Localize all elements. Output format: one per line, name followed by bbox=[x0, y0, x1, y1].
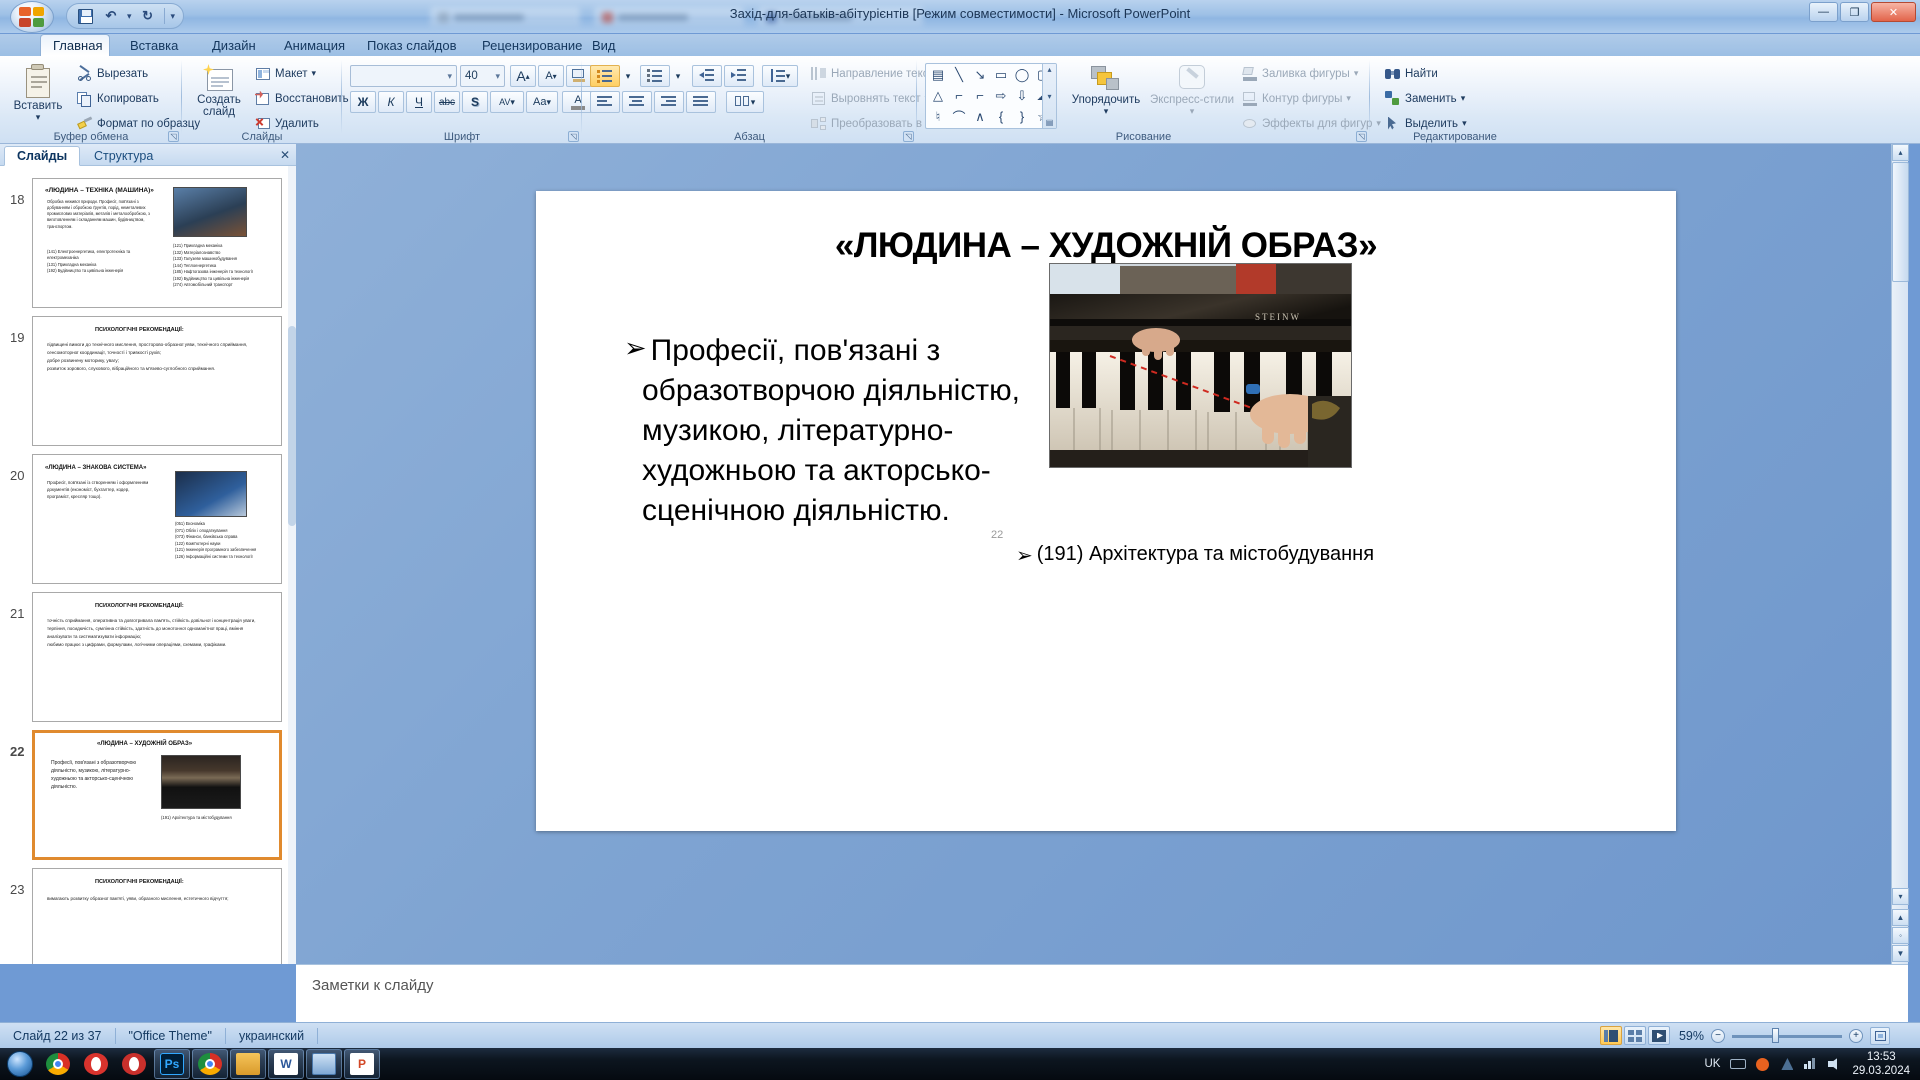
bold-button[interactable]: Ж bbox=[350, 91, 376, 113]
quick-styles-label: Экспресс-стили bbox=[1150, 94, 1234, 106]
find-button[interactable]: Найти bbox=[1382, 64, 1441, 83]
notes-pane[interactable]: Заметки к слайду bbox=[296, 964, 1908, 1022]
zoom-slider-handle[interactable] bbox=[1772, 1028, 1779, 1043]
thumbnail-slide-selected[interactable]: «ЛЮДИНА – ХУДОЖНІЙ ОБРАЗ» Професії, пов'… bbox=[32, 730, 282, 860]
slide-body-line: сценічною діяльністю. bbox=[624, 491, 1144, 531]
opera2-icon bbox=[122, 1053, 146, 1075]
title-bar: ↶ ▾ ↻ ▾ Захід-для-батьків-абітурієнтів [… bbox=[0, 0, 1920, 34]
thumbnail-slide[interactable]: «ЛЮДИНА – ЗНАКОВА СИСТЕМА» Професії, пов… bbox=[32, 454, 282, 584]
thumbnail-photo bbox=[175, 471, 247, 517]
paintbrush-icon bbox=[77, 116, 93, 132]
layout-dropdown-icon[interactable]: ▾ bbox=[312, 68, 317, 79]
paint-bucket-icon bbox=[1242, 66, 1258, 82]
svg-text:STEINW: STEINW bbox=[1255, 312, 1301, 322]
scroll-down-button[interactable]: ▾ bbox=[1892, 888, 1909, 905]
quick-styles-button[interactable]: Экспресс-стили ▾ bbox=[1149, 64, 1235, 117]
shadow-label: S bbox=[471, 95, 479, 109]
ribbon-group-font: ▾ 40 ▾ A▴ A▾ Ж К Ч abc S AV▾ Aa▾ A bbox=[342, 56, 582, 144]
taskbar-opera-2[interactable] bbox=[116, 1049, 152, 1079]
left-brace-shape-icon[interactable]: { bbox=[991, 107, 1011, 126]
numbering-dropdown-icon[interactable]: ▾ bbox=[671, 65, 685, 87]
elbow-arrow-icon[interactable]: ⌐ bbox=[970, 86, 990, 105]
increase-indent-icon bbox=[731, 68, 747, 84]
font-size-combobox[interactable]: 40 ▾ bbox=[460, 65, 505, 87]
taskbar-chrome-2[interactable] bbox=[192, 1049, 228, 1079]
binoculars-icon bbox=[1385, 66, 1401, 82]
triangle-shape-icon[interactable]: △ bbox=[928, 86, 948, 105]
text-direction-icon bbox=[811, 66, 827, 82]
thumbnail-title: «ЛЮДИНА – ТЕХНІКА (МАШИНА)» bbox=[45, 187, 154, 194]
font-size-value: 40 bbox=[465, 70, 495, 82]
bullet-list-icon bbox=[597, 68, 613, 84]
change-case-label: Aa bbox=[533, 96, 546, 108]
close-button[interactable]: ✕ bbox=[1871, 2, 1916, 22]
align-right-icon bbox=[661, 94, 677, 110]
photoshop-icon: Ps bbox=[160, 1053, 184, 1075]
tab-insert[interactable]: Вставка bbox=[118, 34, 190, 56]
thumbnail-body: Професії, пов'язані з образотворчою діял… bbox=[51, 759, 149, 791]
arrange-dropdown-icon[interactable]: ▾ bbox=[1104, 106, 1109, 117]
character-spacing-button[interactable]: AV▾ bbox=[490, 91, 524, 113]
tab-design[interactable]: Дизайн bbox=[200, 34, 268, 56]
thumbnail-slide[interactable]: ПСИХОЛОГІЧНІ РЕКОМЕНДАЦІЇ: точність спри… bbox=[32, 592, 282, 722]
thumbnail-title: ПСИХОЛОГІЧНІ РЕКОМЕНДАЦІЇ: bbox=[95, 327, 184, 333]
slide-second-bullet-text: (191) Архітектура та містобудування bbox=[1037, 543, 1374, 568]
justify-button[interactable] bbox=[686, 91, 716, 113]
thumbnail-body: Професії, пов'язані із створенням і офор… bbox=[47, 479, 151, 500]
align-center-icon bbox=[629, 94, 645, 110]
replace-icon bbox=[1385, 91, 1401, 107]
shapes-row[interactable]: △ ⌐ ⌐ ⇨ ⇩ ☁ bbox=[926, 85, 1056, 106]
layout-label: Макет bbox=[275, 68, 308, 80]
previous-slide-button[interactable]: ▲ bbox=[1892, 909, 1909, 926]
oval-shape-icon[interactable]: ◯ bbox=[1012, 65, 1032, 84]
arrange-button[interactable]: Упорядочить ▾ bbox=[1065, 64, 1147, 117]
tab-view[interactable]: Вид bbox=[580, 34, 628, 56]
group-label-slides: Слайды bbox=[182, 131, 342, 143]
decrease-indent-button[interactable] bbox=[692, 65, 722, 87]
window-title: Захід-для-батьків-абітурієнтів [Режим со… bbox=[0, 6, 1920, 21]
elbow-connector-icon[interactable]: ⌐ bbox=[949, 86, 969, 105]
tab-slides-thumbnails[interactable]: Слайды bbox=[4, 146, 80, 166]
justify-icon bbox=[693, 94, 709, 110]
powerpoint-icon: P bbox=[350, 1053, 374, 1075]
bullets-dropdown-icon[interactable]: ▾ bbox=[621, 65, 635, 87]
columns-button[interactable]: ▾ bbox=[726, 91, 764, 113]
align-text-icon bbox=[811, 91, 827, 107]
view-normal-icon bbox=[1604, 1030, 1618, 1042]
thumbnail-list: (191) Архітектура та містобудування bbox=[161, 815, 271, 820]
view-sorter-icon bbox=[1628, 1030, 1642, 1042]
align-text-button[interactable]: Выровнять текст ▾ bbox=[808, 89, 932, 108]
copy-icon bbox=[77, 91, 93, 107]
thumbnail-extra: (141) Електроенергетика, електротехніка … bbox=[47, 249, 162, 274]
rectangle-shape-icon[interactable]: ▭ bbox=[991, 65, 1011, 84]
font-name-dropdown-icon[interactable]: ▾ bbox=[447, 71, 452, 82]
underline-label: Ч bbox=[415, 95, 423, 109]
piano-photo[interactable]: STEINW bbox=[1049, 263, 1352, 468]
thumbnail-slide[interactable]: ПСИХОЛОГІЧНІ РЕКОМЕНДАЦІЇ: підвищені вим… bbox=[32, 316, 282, 446]
change-case-button[interactable]: Aa▾ bbox=[526, 91, 558, 113]
slide-thumbnail-list[interactable]: 18 «ЛЮДИНА – ТЕХНІКА (МАШИНА)» Обробка н… bbox=[0, 166, 296, 964]
thumbnail-list: (051) Економіка (071) Облік і оподаткува… bbox=[175, 521, 279, 560]
clipboard-dialog-launcher[interactable]: ◹ bbox=[168, 131, 179, 142]
shapes-row[interactable]: ♮ ⌒ ∧ { } ☆ bbox=[926, 106, 1056, 127]
shape-outline-icon bbox=[1242, 91, 1258, 107]
piano-photo-graphic: STEINW bbox=[1050, 264, 1352, 468]
thumbnail-title: «ЛЮДИНА – ХУДОЖНІЙ ОБРАЗ» bbox=[97, 741, 192, 747]
fit-to-window-icon bbox=[1875, 1031, 1886, 1041]
current-slide[interactable]: «ЛЮДИНА – ХУДОЖНІЙ ОБРАЗ» ➢ Професії, по… bbox=[536, 191, 1676, 831]
shapes-gallery-scrollbar[interactable]: ▴ ▾ ▤ bbox=[1042, 64, 1056, 128]
spacing-label: AV bbox=[499, 98, 510, 107]
line-spacing-button[interactable]: ▾ bbox=[762, 65, 798, 87]
scroll-up-button[interactable]: ▴ bbox=[1892, 144, 1909, 161]
window-icon bbox=[312, 1053, 336, 1075]
slide-area-scrollbar[interactable]: ▴ ▾ ▲ ◦ ▼ bbox=[1891, 144, 1908, 964]
windows-taskbar[interactable]: Ps W P UK bbox=[0, 1048, 1920, 1080]
align-center-button[interactable] bbox=[622, 91, 652, 113]
delete-icon bbox=[255, 116, 271, 132]
opera-icon bbox=[84, 1053, 108, 1075]
chrome-icon bbox=[46, 1053, 70, 1075]
explorer-icon bbox=[236, 1053, 260, 1075]
strikethrough-label: abc bbox=[439, 97, 455, 108]
align-left-icon bbox=[597, 94, 613, 110]
font-dialog-launcher[interactable]: ◹ bbox=[568, 131, 579, 142]
down-arrow-shape-icon[interactable]: ⇩ bbox=[1012, 86, 1032, 105]
zoom-slider-track bbox=[1732, 1035, 1842, 1038]
reset-view-button[interactable]: ◦ bbox=[1892, 927, 1909, 944]
bullets-button[interactable] bbox=[590, 65, 620, 87]
underline-button[interactable]: Ч bbox=[406, 91, 432, 113]
cursor-arrow-icon bbox=[1385, 116, 1401, 132]
ribbon-group-slides: Создать слайд Макет ▾ Восстановить bbox=[182, 56, 342, 144]
select-label: Выделить bbox=[1405, 118, 1458, 130]
thumbnail-title: ПСИХОЛОГІЧНІ РЕКОМЕНДАЦІЇ: bbox=[95, 879, 184, 885]
group-label-editing: Редактирование bbox=[1370, 131, 1540, 143]
layout-button[interactable]: Макет ▾ bbox=[252, 64, 319, 83]
right-brace-shape-icon[interactable]: } bbox=[1012, 107, 1032, 126]
shape-fill-button[interactable]: Заливка фигуры ▾ bbox=[1239, 64, 1361, 83]
thumbnail-photo bbox=[161, 755, 241, 809]
thumbnail-photo bbox=[173, 187, 247, 237]
next-slide-button[interactable]: ▼ bbox=[1892, 945, 1909, 962]
align-text-label: Выровнять текст bbox=[831, 93, 921, 105]
thumbnail-body: точність сприймання, оперативна та довго… bbox=[47, 617, 269, 649]
start-button[interactable] bbox=[0, 1049, 40, 1079]
grow-font-label: A bbox=[516, 68, 525, 84]
paste-label: Вставить bbox=[14, 100, 63, 112]
group-label-font: Шрифт bbox=[342, 131, 582, 143]
find-label: Найти bbox=[1405, 68, 1438, 80]
thumbnail-number: 18 bbox=[10, 192, 24, 207]
tab-outline[interactable]: Структура bbox=[82, 146, 165, 166]
thumbnail-slide[interactable]: «ЛЮДИНА – ТЕХНІКА (МАШИНА)» Обробка нежи… bbox=[32, 178, 282, 308]
reset-button[interactable]: Восстановить bbox=[252, 89, 352, 108]
network-icon[interactable] bbox=[1804, 1057, 1818, 1071]
window-controls[interactable]: — ❐ ✕ bbox=[1809, 2, 1916, 22]
slide-editing-area[interactable]: «ЛЮДИНА – ХУДОЖНІЙ ОБРАЗ» ➢ Професії, по… bbox=[296, 144, 1908, 964]
new-slide-button[interactable]: Создать слайд bbox=[190, 64, 248, 118]
group-label-clipboard: Буфер обмена bbox=[0, 131, 182, 143]
bullet-arrow-icon: ➢ bbox=[624, 331, 647, 371]
group-label-drawing: Рисование bbox=[917, 131, 1370, 143]
align-left-button[interactable] bbox=[590, 91, 620, 113]
theme-name[interactable]: "Office Theme" bbox=[116, 1026, 225, 1046]
view-slideshow-button[interactable] bbox=[1648, 1026, 1670, 1045]
word-icon: W bbox=[274, 1053, 298, 1075]
taskbar-word[interactable]: W bbox=[268, 1049, 304, 1079]
italic-button[interactable]: К bbox=[378, 91, 404, 113]
tab-slideshow[interactable]: Показ слайдов bbox=[355, 34, 469, 56]
shape-effects-label: Эффекты для фигур bbox=[1262, 118, 1372, 130]
columns-icon bbox=[735, 94, 751, 110]
tab-animation[interactable]: Анимация bbox=[272, 34, 357, 56]
quick-styles-dropdown-icon[interactable]: ▾ bbox=[1190, 106, 1195, 117]
action-center-icon[interactable] bbox=[1780, 1057, 1794, 1071]
slide-title[interactable]: «ЛЮДИНА – ХУДОЖНІЙ ОБРАЗ» bbox=[536, 226, 1676, 266]
view-sorter-button[interactable] bbox=[1624, 1026, 1646, 1045]
view-slideshow-icon bbox=[1652, 1030, 1666, 1042]
scroll-thumb[interactable] bbox=[1892, 162, 1909, 282]
zoom-slider[interactable] bbox=[1732, 1026, 1842, 1045]
slide-second-bullet[interactable]: ➢ (191) Архітектура та містобудування bbox=[1016, 543, 1374, 568]
fit-to-window-button[interactable] bbox=[1870, 1027, 1890, 1045]
thumbnail-body: Обробка неживої природи. Професії, пов'я… bbox=[47, 199, 159, 230]
slides-pane-tabs: Слайды Структура ✕ bbox=[0, 144, 296, 166]
zoom-in-button[interactable]: + bbox=[1849, 1029, 1863, 1043]
gallery-more-icon[interactable]: ▤ bbox=[1046, 118, 1054, 127]
tab-review[interactable]: Рецензирование bbox=[470, 34, 594, 56]
scissors-icon bbox=[77, 66, 93, 82]
shape-effects-icon bbox=[1242, 116, 1258, 132]
clock-date: 29.03.2024 bbox=[1852, 1064, 1910, 1078]
text-shadow-button[interactable]: S bbox=[462, 91, 488, 113]
thumbnail-body: вимагають розвитку образної пам'яті, уяв… bbox=[47, 895, 269, 903]
curve-shape-icon[interactable]: ⌒ bbox=[949, 107, 969, 126]
chrome2-icon bbox=[198, 1053, 222, 1075]
copy-button[interactable]: Копировать bbox=[74, 89, 162, 108]
gallery-scroll-up-icon[interactable]: ▴ bbox=[1047, 65, 1051, 74]
zoom-percent[interactable]: 59% bbox=[1679, 1029, 1704, 1043]
bullet-arrow-icon-2: ➢ bbox=[1016, 543, 1033, 568]
font-size-dropdown-icon[interactable]: ▾ bbox=[495, 71, 500, 82]
align-right-button[interactable] bbox=[654, 91, 684, 113]
thumbnail-title: «ЛЮДИНА – ЗНАКОВА СИСТЕМА» bbox=[45, 465, 146, 471]
thumbnail-number: 23 bbox=[10, 882, 24, 897]
smartart-icon bbox=[811, 116, 827, 132]
antivirus-icon[interactable] bbox=[1756, 1057, 1770, 1071]
slides-pane-scroll-thumb[interactable] bbox=[288, 326, 296, 526]
thumbnail-title: ПСИХОЛОГІЧНІ РЕКОМЕНДАЦІЇ: bbox=[95, 603, 184, 609]
ribbon-group-editing: Найти Заменить ▾ Выделить ▾ Редактирован… bbox=[1370, 56, 1540, 144]
slides-pane-scrollbar[interactable] bbox=[288, 166, 296, 964]
line-shape-icon[interactable]: ╲ bbox=[949, 65, 969, 84]
line-spacing-icon bbox=[770, 68, 786, 84]
decrease-indent-icon bbox=[699, 68, 715, 84]
thumbnail-body: підвищені вимоги до технічного мислення,… bbox=[47, 341, 269, 373]
arc-shape-icon[interactable]: ∧ bbox=[970, 107, 990, 126]
notes-placeholder[interactable]: Заметки к слайду bbox=[312, 977, 434, 994]
taskbar-powerpoint[interactable]: P bbox=[344, 1049, 380, 1079]
delete-slide-label: Удалить bbox=[275, 118, 319, 130]
clock-time: 13:53 bbox=[1852, 1050, 1910, 1064]
bold-label: Ж bbox=[358, 95, 369, 109]
slide-number-placeholder: 22 bbox=[991, 529, 1003, 541]
cut-button[interactable]: Вырезать bbox=[74, 64, 151, 83]
reset-label: Восстановить bbox=[275, 93, 349, 105]
drawing-dialog-launcher[interactable]: ◹ bbox=[1356, 131, 1367, 142]
copy-label: Копировать bbox=[97, 93, 159, 105]
close-pane-icon[interactable]: ✕ bbox=[280, 148, 290, 162]
paragraph-dialog-launcher[interactable]: ◹ bbox=[903, 131, 914, 142]
grow-font-button[interactable]: A▴ bbox=[510, 65, 536, 87]
thumbnail-list: (121) Прикладна механіка (132) Матеріало… bbox=[173, 243, 277, 289]
increase-indent-button[interactable] bbox=[724, 65, 754, 87]
slide-counter[interactable]: Слайд 22 из 37 bbox=[0, 1026, 115, 1046]
new-slide-icon bbox=[203, 64, 235, 94]
shapes-row[interactable]: ▤ ╲ ↘ ▭ ◯ ▢ bbox=[926, 64, 1056, 85]
thumbnail-slide[interactable]: ПСИХОЛОГІЧНІ РЕКОМЕНДАЦІЇ: вимагають роз… bbox=[32, 868, 282, 964]
arrow-shape-icon[interactable]: ↘ bbox=[970, 65, 990, 84]
layout-icon bbox=[255, 66, 271, 82]
shrink-font-button[interactable]: A▾ bbox=[538, 65, 564, 87]
gallery-scroll-down-icon[interactable]: ▾ bbox=[1047, 92, 1051, 101]
shapes-gallery[interactable]: ▤ ╲ ↘ ▭ ◯ ▢ △ ⌐ ⌐ ⇨ ⇩ ☁ ♮ ⌒ ∧ { } ☆ bbox=[925, 63, 1057, 129]
ribbon-group-drawing: ▤ ╲ ↘ ▭ ◯ ▢ △ ⌐ ⌐ ⇨ ⇩ ☁ ♮ ⌒ ∧ { } ☆ bbox=[917, 56, 1370, 144]
taskbar-photoshop[interactable]: Ps bbox=[154, 1049, 190, 1079]
slide-body-line: Професії, пов'язані з bbox=[651, 331, 941, 371]
ribbon: Вставить ▾ Вырезать Копировать Ф bbox=[0, 56, 1920, 144]
volume-icon[interactable] bbox=[1828, 1057, 1842, 1071]
view-normal-button[interactable] bbox=[1600, 1026, 1622, 1045]
shape-outline-button[interactable]: Контур фигуры ▾ bbox=[1239, 89, 1354, 108]
paste-icon bbox=[22, 64, 54, 100]
paste-button[interactable]: Вставить ▾ bbox=[6, 64, 70, 123]
right-arrow-shape-icon[interactable]: ⇨ bbox=[991, 86, 1011, 105]
numbering-button[interactable] bbox=[640, 65, 670, 87]
arrange-icon bbox=[1089, 64, 1123, 94]
zoom-controls[interactable]: 59% − + bbox=[1679, 1026, 1890, 1045]
taskbar-clock[interactable]: 13:53 29.03.2024 bbox=[1852, 1050, 1910, 1079]
thumbnail-number: 22 bbox=[10, 744, 24, 759]
numbered-list-icon bbox=[647, 68, 663, 84]
paste-dropdown-icon[interactable]: ▾ bbox=[36, 112, 41, 123]
group-label-paragraph: Абзац bbox=[582, 131, 917, 143]
taskbar-explorer[interactable] bbox=[230, 1049, 266, 1079]
keyboard-icon[interactable] bbox=[1730, 1057, 1746, 1071]
ribbon-group-paragraph: ▾ ▾ bbox=[582, 56, 917, 144]
taskbar-opera[interactable] bbox=[78, 1049, 114, 1079]
taskbar-chrome[interactable] bbox=[40, 1049, 76, 1079]
thumbnail-number: 20 bbox=[10, 468, 24, 483]
shrink-font-label: A bbox=[545, 70, 552, 82]
tab-home[interactable]: Главная bbox=[40, 34, 110, 56]
replace-label: Заменить bbox=[1405, 93, 1457, 105]
shape-fill-label: Заливка фигуры bbox=[1262, 68, 1350, 80]
language-indicator[interactable]: украинский bbox=[226, 1026, 317, 1046]
thumbnail-number: 19 bbox=[10, 330, 24, 345]
new-slide-label: Создать слайд bbox=[190, 94, 248, 118]
replace-button[interactable]: Заменить ▾ bbox=[1382, 89, 1468, 108]
status-bar: Слайд 22 из 37 "Office Theme" украинский bbox=[0, 1022, 1920, 1048]
font-name-combobox[interactable]: ▾ bbox=[350, 65, 457, 87]
ribbon-group-clipboard: Вставить ▾ Вырезать Копировать Ф bbox=[0, 56, 182, 144]
italic-label: К bbox=[387, 95, 394, 109]
freeform-shape-icon[interactable]: ♮ bbox=[928, 107, 948, 126]
status-separator bbox=[317, 1028, 318, 1044]
quick-styles-icon bbox=[1176, 64, 1208, 94]
arrange-label: Упорядочить bbox=[1072, 94, 1140, 106]
system-tray[interactable]: UK 13:53 29.03.2024 bbox=[1704, 1048, 1920, 1080]
ribbon-tab-strip: Главная Вставка Дизайн Анимация Показ сл… bbox=[0, 34, 1920, 56]
taskbar-window[interactable] bbox=[306, 1049, 342, 1079]
start-orb-icon bbox=[7, 1051, 33, 1077]
thumbnail-number: 21 bbox=[10, 606, 24, 621]
tray-language[interactable]: UK bbox=[1704, 1058, 1720, 1070]
reset-icon bbox=[255, 91, 271, 107]
shape-outline-label: Контур фигуры bbox=[1262, 93, 1342, 105]
maximize-button[interactable]: ❐ bbox=[1840, 2, 1869, 22]
minimize-button[interactable]: — bbox=[1809, 2, 1838, 22]
textbox-shape-icon[interactable]: ▤ bbox=[928, 65, 948, 84]
zoom-out-button[interactable]: − bbox=[1711, 1029, 1725, 1043]
strikethrough-button[interactable]: abc bbox=[434, 91, 460, 113]
cut-label: Вырезать bbox=[97, 68, 148, 80]
view-buttons[interactable] bbox=[1600, 1026, 1670, 1045]
